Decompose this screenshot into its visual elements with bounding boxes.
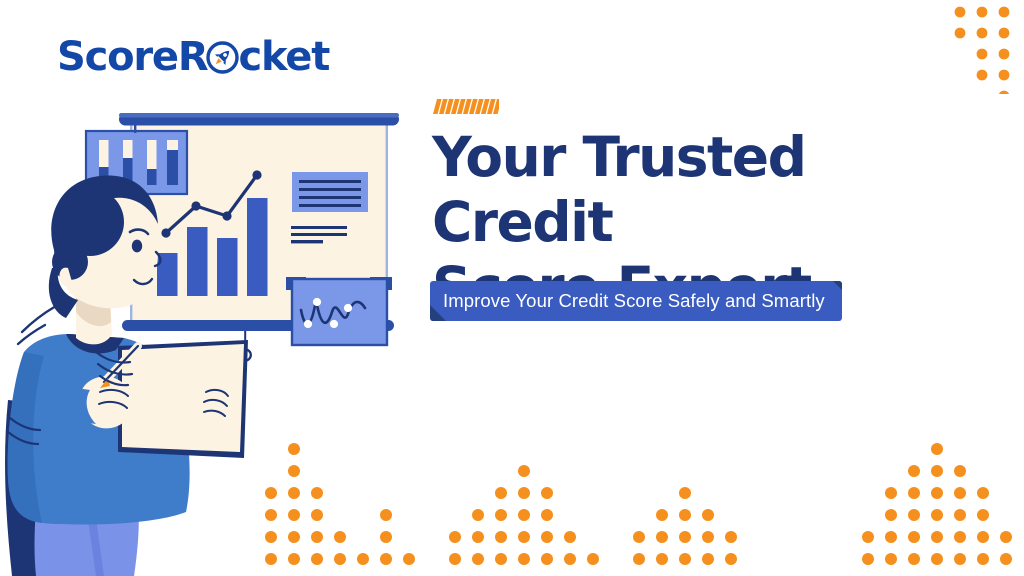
dot-cluster-top-right <box>948 2 1024 99</box>
hero-banner: Score R cket <box>0 0 1024 576</box>
headline-line-1: Your Trusted Credit <box>432 125 972 255</box>
subtitle-banner: Improve Your Credit Score Safely and Sma… <box>430 281 842 321</box>
subtitle-corner-notch-top-right <box>833 281 842 290</box>
diagonal-hatch-accent <box>433 99 499 114</box>
dot-cluster-bottom <box>0 436 1024 576</box>
floating-wave-panel <box>286 277 392 345</box>
subtitle-text: Improve Your Credit Score Safely and Sma… <box>430 290 825 312</box>
